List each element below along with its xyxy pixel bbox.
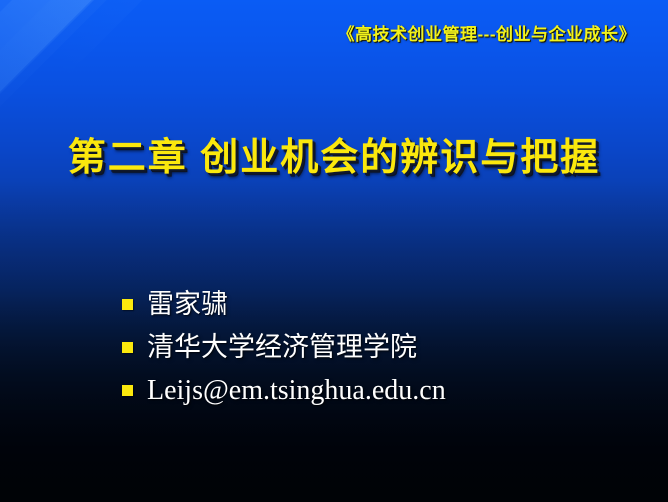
stripe-band-7 (0, 0, 397, 113)
bullet-square-icon (122, 299, 133, 310)
affiliation: 清华大学经济管理学院 (147, 334, 417, 361)
presentation-slide: 《高技术创业管理---创业与企业成长》 第二章 创业机会的辨识与把握 雷家骕 清… (0, 0, 668, 502)
email-address: Leijs@em.tsinghua.edu.cn (147, 377, 446, 405)
list-item: Leijs@em.tsinghua.edu.cn (122, 369, 602, 412)
bullet-square-icon (122, 342, 133, 353)
stripe-fade-overlay (0, 0, 668, 502)
diagonal-stripes-decoration (0, 0, 668, 502)
list-item: 清华大学经济管理学院 (122, 326, 602, 369)
slide-header-course-title: 《高技术创业管理---创业与企业成长》 (0, 20, 636, 45)
slide-main-title: 第二章 创业机会的辨识与把握 (0, 126, 668, 181)
stripe-band-3 (0, 0, 45, 368)
author-name: 雷家骕 (147, 291, 228, 318)
slide-bullet-list: 雷家骕 清华大学经济管理学院 Leijs@em.tsinghua.edu.cn (122, 283, 602, 412)
list-item: 雷家骕 (122, 283, 602, 326)
bullet-square-icon (122, 385, 133, 396)
